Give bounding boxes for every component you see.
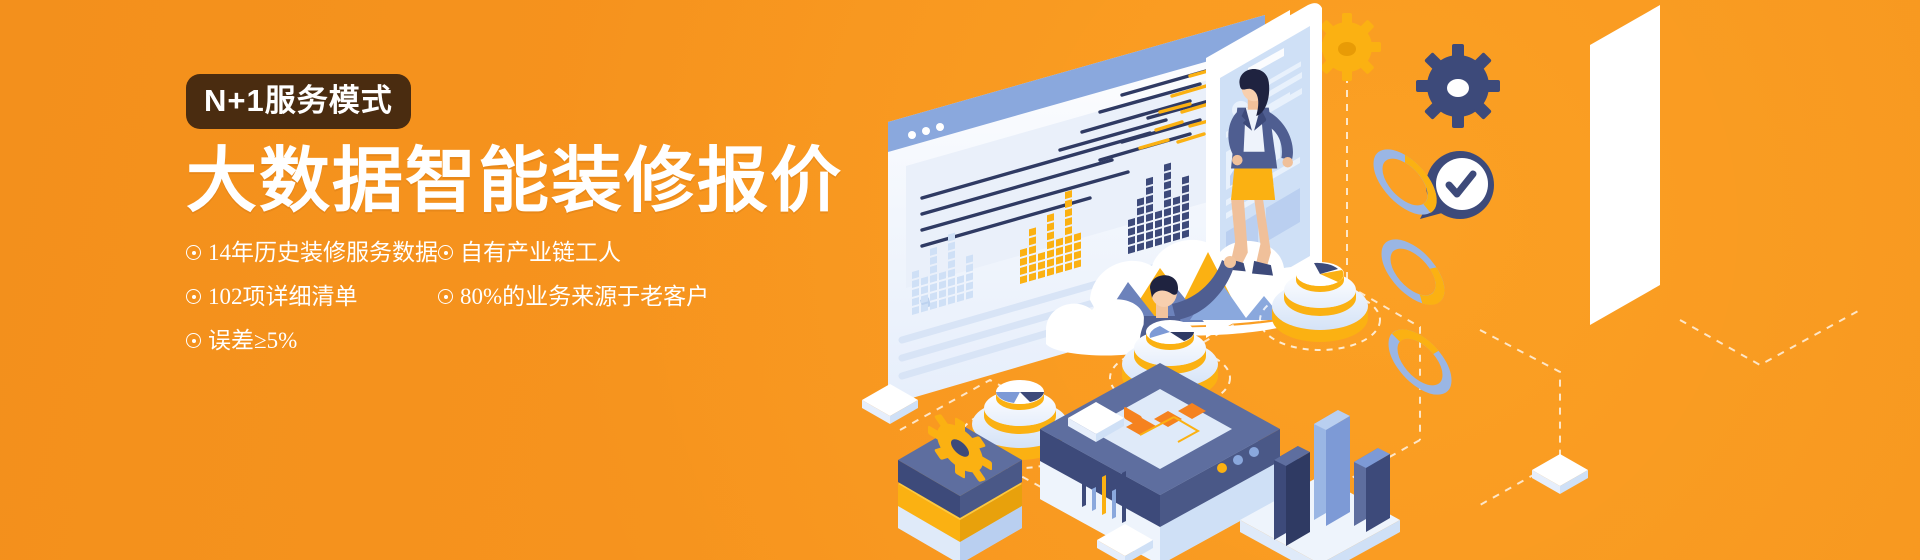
- feature-label: 14年历史装修服务数据: [208, 241, 438, 264]
- circle-dot-icon: [438, 245, 453, 260]
- feature-label: 误差≥5%: [208, 329, 297, 352]
- page-title: 大数据智能装修报价: [186, 146, 826, 217]
- list-item: 102项详细清单: [186, 285, 438, 308]
- circle-dot-icon: [186, 333, 201, 348]
- gear-navy: [1416, 44, 1500, 128]
- feature-label: 80%的业务来源于老客户: [460, 285, 709, 308]
- feature-label: 102项详细清单: [208, 285, 358, 308]
- feature-list: 14年历史装修服务数据 自有产业链工人 102项详细清单 80%的业务来源于老客…: [186, 241, 706, 373]
- floating-tile: [1532, 454, 1588, 494]
- service-model-badge: N+1服务模式: [186, 74, 411, 129]
- list-item: 80%的业务来源于老客户: [438, 285, 700, 308]
- circle-dot-icon: [438, 289, 453, 304]
- banner-copy: N+1服务模式 大数据智能装修报价 14年历史装修服务数据 自有产业链工人 10…: [186, 74, 826, 373]
- gear-yellow: [1313, 13, 1381, 81]
- circle-dot-icon: [186, 289, 201, 304]
- list-item: 自有产业链工人: [438, 241, 700, 264]
- donut-ring: [1386, 233, 1440, 311]
- promo-banner: N+1服务模式 大数据智能装修报价 14年历史装修服务数据 自有产业链工人 10…: [0, 0, 1920, 560]
- donut-ring: [1378, 143, 1432, 221]
- list-item: 14年历史装修服务数据: [186, 241, 438, 264]
- feature-label: 自有产业链工人: [460, 241, 621, 264]
- list-item: 误差≥5%: [186, 329, 438, 352]
- isometric-big-data-illustration: [860, 0, 1920, 560]
- circle-dot-icon: [186, 245, 201, 260]
